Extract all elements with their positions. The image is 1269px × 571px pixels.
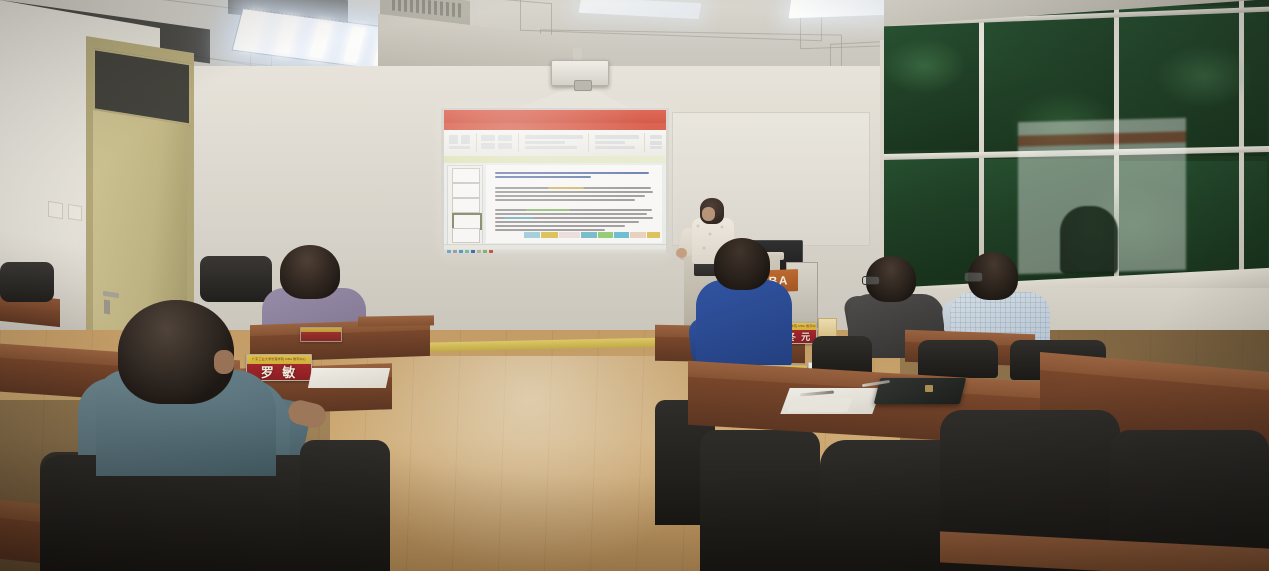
door-lock-icon[interactable] bbox=[104, 300, 110, 315]
placard-name-text bbox=[301, 332, 341, 341]
desk bbox=[358, 315, 434, 326]
presenter-face bbox=[702, 207, 715, 221]
classroom-photo: MBA 广东工业大学管理学院 MBA 教育中心 罗 敏 bbox=[0, 0, 1269, 571]
audience-blue-body bbox=[696, 280, 792, 366]
chair bbox=[300, 440, 390, 571]
person-silhouette-reflection bbox=[1060, 206, 1118, 274]
foreground-person-ear bbox=[214, 350, 234, 374]
glasses-icon bbox=[862, 276, 880, 285]
chair bbox=[0, 262, 54, 302]
chair bbox=[700, 430, 820, 571]
presenter-hand bbox=[676, 248, 687, 258]
placard-background bbox=[300, 327, 342, 342]
audience-blue-head bbox=[714, 238, 770, 290]
wall-outlet-icon[interactable] bbox=[48, 201, 63, 219]
glasses-icon bbox=[964, 272, 983, 282]
chair bbox=[918, 340, 998, 378]
laptop-logo-icon bbox=[925, 385, 933, 392]
screen-glare bbox=[444, 110, 666, 254]
paper-sheet bbox=[787, 398, 853, 412]
wall-switch-icon[interactable] bbox=[68, 204, 82, 221]
chair bbox=[200, 256, 272, 302]
projector-lens-icon bbox=[574, 80, 592, 91]
audience-purple-head bbox=[280, 245, 340, 299]
paper-sheet bbox=[308, 368, 390, 388]
